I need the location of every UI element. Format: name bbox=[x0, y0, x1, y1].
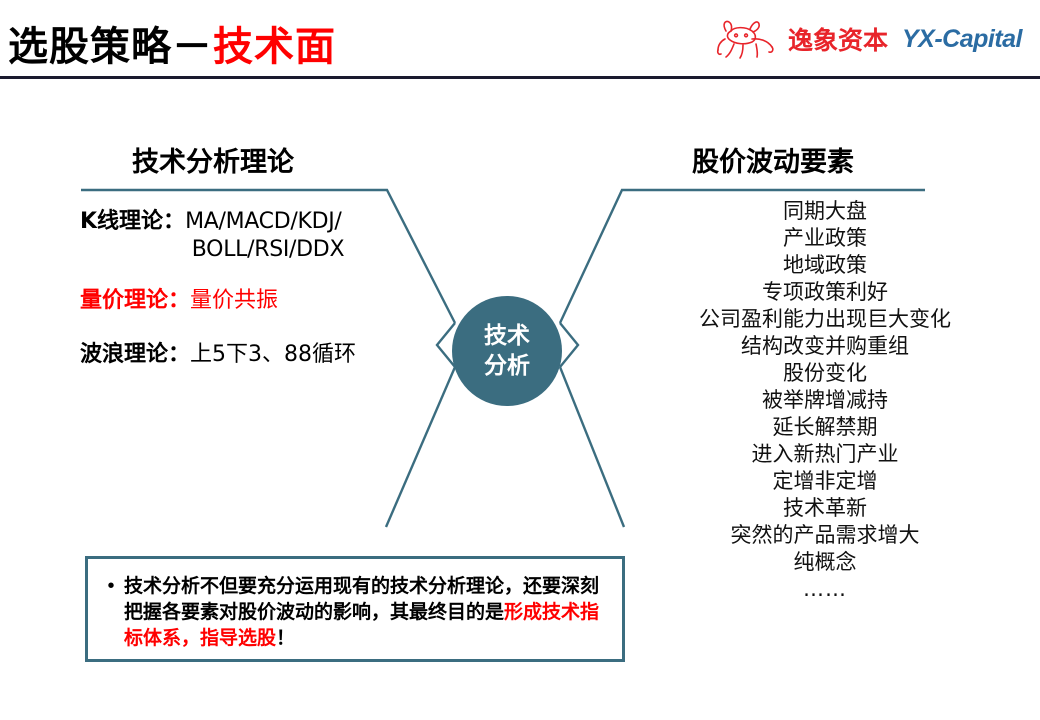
list-item: 纯概念 bbox=[630, 549, 1020, 576]
bullet-marker: • bbox=[98, 573, 124, 651]
list-item-ellipsis: …… bbox=[630, 576, 1020, 603]
logo-text-en: YX-Capital bbox=[902, 25, 1022, 54]
center-node-technical-analysis: 技术 分析 bbox=[452, 296, 562, 406]
page-title: 选股策略－技术面 bbox=[8, 14, 336, 72]
right-column-heading: 股价波动要素 bbox=[692, 140, 854, 179]
list-item: 专项政策利好 bbox=[630, 279, 1020, 306]
funnel-right-chevron bbox=[560, 323, 578, 367]
list-item: 地域政策 bbox=[630, 252, 1020, 279]
theory-value: 量价共振 bbox=[190, 288, 278, 313]
summary-note-box: • 技术分析不但要充分运用现有的技术分析理论，还要深刻把握各要素对股价波动的影响… bbox=[85, 556, 625, 662]
technical-theory-list: K线理论：MA/MACD/KDJ/ BOLL/RSI/DDX 量价理论：量价共振… bbox=[80, 208, 400, 390]
bull-icon bbox=[712, 17, 780, 61]
list-item: 公司盈利能力出现巨大变化 bbox=[630, 306, 1020, 333]
theory-row: 量价理论：量价共振 bbox=[80, 287, 400, 315]
page-title-main: 选股策略 bbox=[8, 24, 172, 70]
theory-value: 上5下3、88循环 bbox=[190, 342, 356, 367]
theory-value: MA/MACD/KDJ/ bbox=[185, 209, 341, 234]
list-item: 同期大盘 bbox=[630, 198, 1020, 225]
list-item: 突然的产品需求增大 bbox=[630, 522, 1020, 549]
theory-label: K线理论： bbox=[80, 209, 185, 234]
funnel-left-bottom-line bbox=[386, 367, 455, 527]
theory-label: 波浪理论： bbox=[80, 342, 190, 367]
funnel-right-bottom-line bbox=[560, 367, 624, 527]
summary-note-text: 技术分析不但要充分运用现有的技术分析理论，还要深刻把握各要素对股价波动的影响，其… bbox=[124, 573, 612, 651]
list-item: 定增非定增 bbox=[630, 468, 1020, 495]
page-title-accent: 技术面 bbox=[213, 24, 336, 70]
center-node-line2: 分析 bbox=[484, 351, 530, 381]
theory-row: 波浪理论：上5下3、88循环 bbox=[80, 341, 400, 369]
page-title-dash: － bbox=[172, 24, 213, 70]
header-divider bbox=[0, 76, 1040, 79]
center-node-line1: 技术 bbox=[484, 321, 530, 351]
brand-logo: 逸象资本 YX-Capital bbox=[712, 16, 1022, 62]
list-item: 结构改变并购重组 bbox=[630, 333, 1020, 360]
theory-label: 量价理论： bbox=[80, 288, 190, 313]
list-item: 进入新热门产业 bbox=[630, 441, 1020, 468]
note-text-part2: ！ bbox=[276, 627, 295, 649]
left-column-heading: 技术分析理论 bbox=[132, 140, 294, 179]
list-item: 技术革新 bbox=[630, 495, 1020, 522]
list-item: 被举牌增减持 bbox=[630, 387, 1020, 414]
slide-header: 选股策略－技术面 逸象资本 YX-Capital bbox=[0, 0, 1040, 80]
list-item: 产业政策 bbox=[630, 225, 1020, 252]
logo-text-cn: 逸象资本 bbox=[788, 21, 888, 57]
theory-row: K线理论：MA/MACD/KDJ/ BOLL/RSI/DDX bbox=[80, 208, 400, 263]
list-item: 延长解禁期 bbox=[630, 414, 1020, 441]
list-item: 股份变化 bbox=[630, 360, 1020, 387]
theory-value-line2: BOLL/RSI/DDX bbox=[80, 236, 400, 264]
price-factor-list: 同期大盘 产业政策 地域政策 专项政策利好 公司盈利能力出现巨大变化 结构改变并… bbox=[630, 198, 1020, 603]
